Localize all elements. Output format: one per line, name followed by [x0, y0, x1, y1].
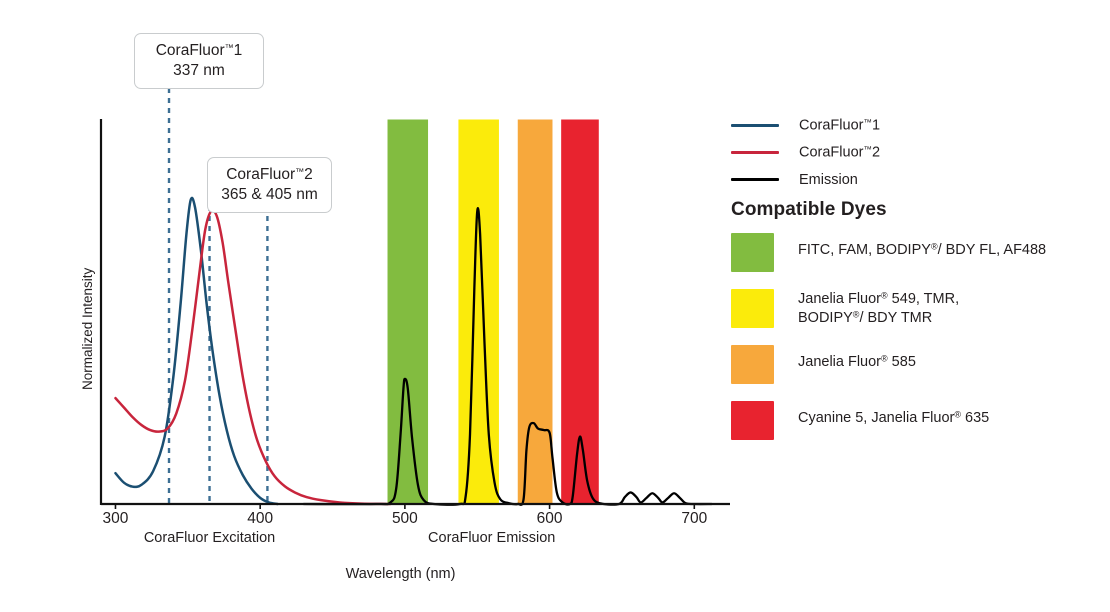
legend-line-swatch-emission	[731, 178, 779, 181]
x-tick-600: 600	[520, 510, 580, 528]
x-group-label-excitation: CoraFluor Excitation	[144, 530, 275, 546]
emission-band-2	[518, 120, 553, 505]
legend-label-emission: Emission	[799, 172, 858, 188]
emission-band-3	[561, 120, 599, 505]
compatible-dyes-list: FITC, FAM, BODIPY®/ BDY FL, AF488Janelia…	[731, 233, 1091, 457]
y-axis-title: Normalized Intensity	[80, 268, 95, 390]
dye-label-1: Janelia Fluor® 549, TMR,BODIPY®/ BDY TMR	[798, 289, 959, 328]
legend-line-swatch-corafluor1	[731, 124, 779, 127]
dye-row-0: FITC, FAM, BODIPY®/ BDY FL, AF488	[731, 233, 1091, 272]
dye-color-swatch-2	[731, 345, 774, 384]
x-tick-500: 500	[375, 510, 435, 528]
x-tick-700: 700	[664, 510, 724, 528]
legend-item-emission: Emission	[731, 166, 880, 193]
compatible-dyes-heading: Compatible Dyes	[731, 199, 887, 221]
callout-2-line2: 365 & 405 nm	[220, 185, 319, 205]
legend-item-corafluor2: CoraFluor™2	[731, 139, 880, 166]
dye-row-1: Janelia Fluor® 549, TMR,BODIPY®/ BDY TMR	[731, 289, 1091, 328]
spectra-figure: CoraFluor™1 337 nm CoraFluor™2 365 & 405…	[0, 0, 1110, 612]
legend-line-swatch-corafluor2	[731, 151, 779, 154]
legend-item-corafluor1: CoraFluor™1	[731, 112, 880, 139]
dye-row-2: Janelia Fluor® 585	[731, 345, 1091, 384]
x-group-label-emission: CoraFluor Emission	[428, 530, 555, 546]
series-curve-2	[304, 208, 712, 505]
dye-label-2: Janelia Fluor® 585	[798, 345, 916, 372]
dye-color-swatch-0	[731, 233, 774, 272]
series-legend: CoraFluor™1 CoraFluor™2 Emission	[731, 112, 880, 193]
legend-label-corafluor1: CoraFluor™1	[799, 117, 880, 133]
dye-row-3: Cyanine 5, Janelia Fluor® 635	[731, 401, 1091, 440]
callout-1-line1: CoraFluor™1	[147, 41, 251, 61]
callout-corafluor2: CoraFluor™2 365 & 405 nm	[207, 157, 332, 213]
callout-corafluor1: CoraFluor™1 337 nm	[134, 33, 264, 89]
dye-label-0: FITC, FAM, BODIPY®/ BDY FL, AF488	[798, 233, 1046, 260]
emission-band-0	[388, 120, 429, 505]
legend-label-corafluor2: CoraFluor™2	[799, 144, 880, 160]
x-tick-300: 300	[85, 510, 145, 528]
callout-2-line1: CoraFluor™2	[220, 165, 319, 185]
dye-label-3: Cyanine 5, Janelia Fluor® 635	[798, 401, 989, 428]
dye-color-swatch-1	[731, 289, 774, 328]
series-curve-0	[115, 198, 277, 504]
dye-color-swatch-3	[731, 401, 774, 440]
callout-1-line2: 337 nm	[147, 61, 251, 81]
x-tick-400: 400	[230, 510, 290, 528]
emission-band-1	[458, 120, 499, 505]
x-axis-title: Wavelength (nm)	[346, 566, 456, 582]
